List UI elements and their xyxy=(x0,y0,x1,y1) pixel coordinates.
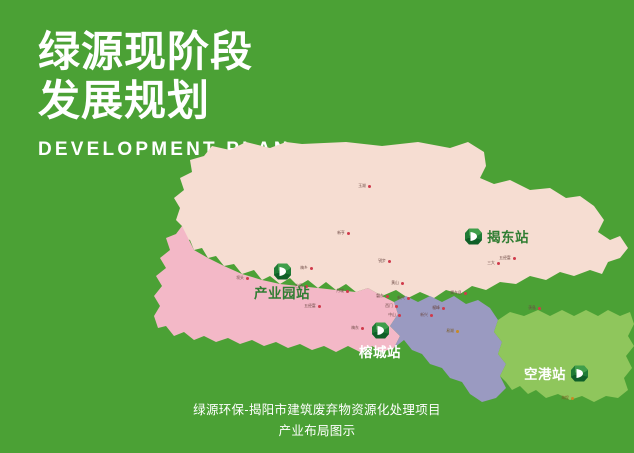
station-label-jiedong: 揭东站 xyxy=(487,226,529,246)
lvyuan-logo-icon xyxy=(465,227,482,246)
station-marker-jiedong[interactable]: 揭东站 xyxy=(465,226,529,246)
caption-line-1: 绿源环保-揭阳市建筑废弃物资源化处理项目 xyxy=(0,400,634,421)
lvyuan-logo-icon xyxy=(372,321,389,340)
station-label-rongcheng: 榕城站 xyxy=(359,341,401,361)
poster-canvas: 绿源现阶段 发展规划 DEVELOPMENT PLAN 玉湖新亨锐步五经富三大坝… xyxy=(0,0,634,453)
headline-cn-line2: 发展规划 xyxy=(38,77,368,126)
lvyuan-logo-icon xyxy=(571,364,588,383)
headline-cn-line1: 绿源现阶段 xyxy=(38,28,368,77)
station-label-konggang: 空港站 xyxy=(524,363,566,383)
station-marker-konggang[interactable]: 空港站 xyxy=(524,363,588,383)
lvyuan-logo-icon xyxy=(274,262,291,281)
map-region-southeast xyxy=(494,310,634,402)
station-marker-chanyeyuan[interactable]: 产业园站 xyxy=(254,262,310,302)
map-region-center xyxy=(390,296,506,402)
station-marker-rongcheng[interactable]: 榕城站 xyxy=(359,321,401,361)
station-label-chanyeyuan: 产业园站 xyxy=(254,282,310,302)
poster-caption: 绿源环保-揭阳市建筑废弃物资源化处理项目 产业布局图示 xyxy=(0,400,634,441)
caption-line-2: 产业布局图示 xyxy=(0,421,634,442)
